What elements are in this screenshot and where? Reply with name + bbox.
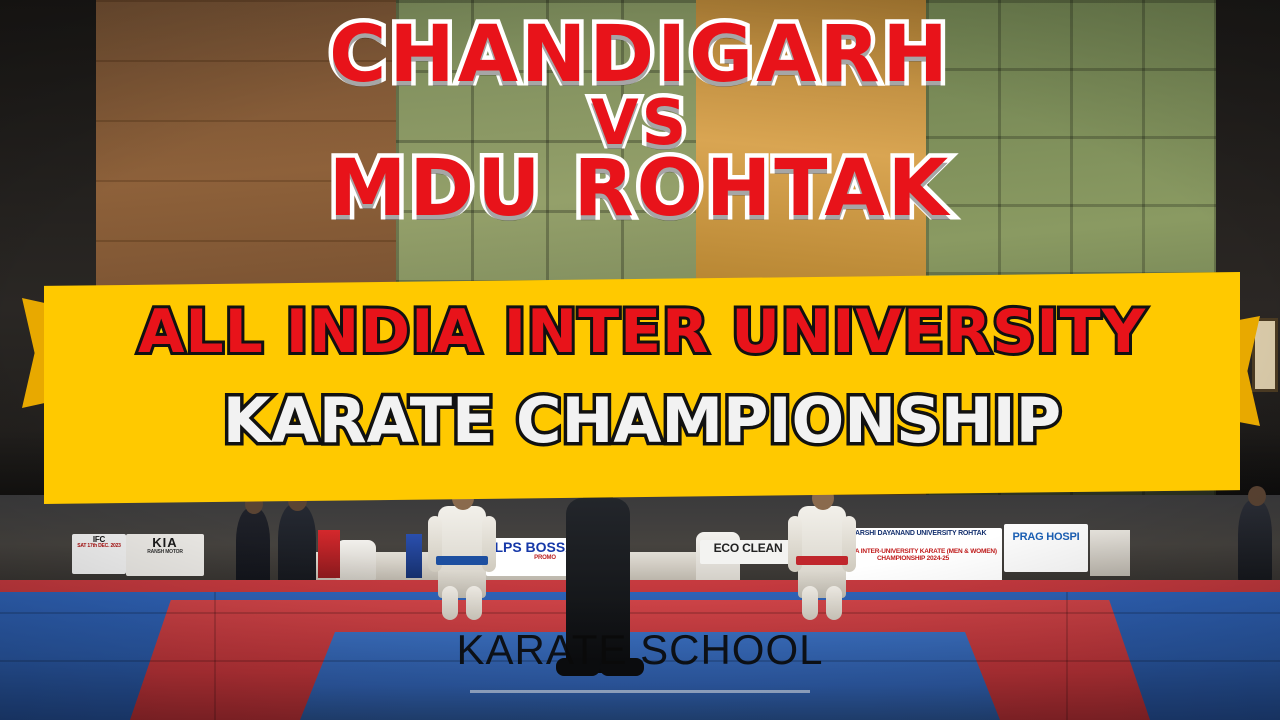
ribbon-line-2: KARATE CHAMPIONSHIP: [44, 390, 1240, 452]
watermark-text: KARATE SCHOOL: [0, 626, 1280, 674]
official-far-right: [1238, 500, 1272, 586]
banner-ifc-sub: SAT 17th DEC. 2023: [73, 544, 125, 549]
chair-white-left: [336, 540, 376, 580]
banner-eco-clean-text: ECO CLEAN: [701, 542, 795, 555]
athlete-red-belt: [796, 556, 848, 565]
sponsor-flag-left: [318, 530, 340, 578]
banner-eco-clean: ECO CLEAN: [700, 540, 796, 564]
athlete-blue-belt: [436, 556, 488, 565]
athlete-blue-leg-left: [442, 586, 458, 620]
official-right: [278, 504, 316, 590]
ribbon-body: ALL INDIA INTER UNIVERSITY KARATE CHAMPI…: [44, 272, 1240, 504]
banner-ifc: IFC SAT 17th DEC. 2023: [72, 534, 126, 574]
banner-kia-sub: RANSH MOTOR: [127, 550, 203, 555]
athlete-red-torso: [798, 506, 846, 598]
sponsor-flag-blue: [406, 534, 422, 578]
athlete-red-leg-right: [826, 586, 842, 620]
ribbon-banner: ALL INDIA INTER UNIVERSITY KARATE CHAMPI…: [22, 272, 1260, 504]
sponsor-flag-right: [1090, 530, 1130, 576]
thumbnail-image: IFC SAT 17th DEC. 2023 KIA RANSH MOTOR L…: [0, 0, 1280, 720]
official-left: [236, 508, 270, 590]
mat-center-line: [470, 690, 810, 693]
banner-prag-hospital: PRAG HOSPI: [1004, 524, 1088, 572]
athlete-blue-torso: [438, 506, 486, 598]
banner-kia: KIA RANSH MOTOR: [126, 534, 204, 576]
banner-prag-hospital-text: PRAG HOSPI: [1005, 532, 1087, 544]
athlete-blue-leg-right: [466, 586, 482, 620]
athlete-red-leg-left: [802, 586, 818, 620]
mat-seam-1: [0, 612, 1280, 614]
banner-kia-text: KIA: [127, 536, 203, 550]
ribbon-line-1: ALL INDIA INTER UNIVERSITY: [44, 302, 1240, 362]
